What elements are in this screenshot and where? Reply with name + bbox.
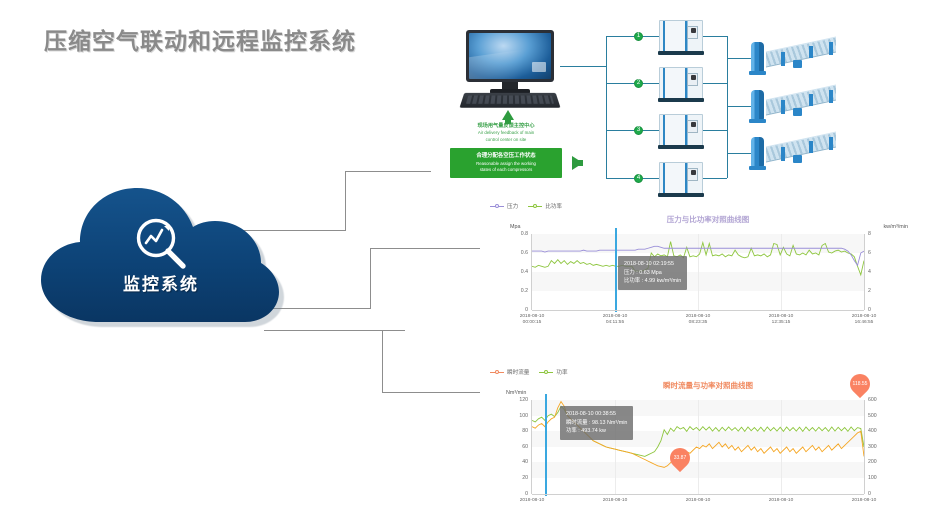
chart2-min-marker-pin[interactable]: 33.87 [666, 444, 694, 472]
chart1-tooltip: 2018-08-10 02:19:55 压力 : 0.63 Mpa 比功率 : … [618, 256, 687, 290]
compressor-unit[interactable] [659, 114, 703, 146]
flow-power-chart[interactable]: 瞬时流量 功率 瞬时流量与功率对照曲线图 Nm³/min [488, 368, 908, 518]
node-to-compressor-line-3 [643, 130, 659, 131]
right-arrow-icon [572, 156, 583, 170]
pipe-drop [781, 52, 785, 66]
feedback-note-cn: 现场用气量反馈主控中心 [448, 122, 564, 130]
node-badge-1[interactable]: 1 [634, 32, 643, 41]
chart1-y2tick: 4 [868, 269, 871, 275]
legend-label: 瞬时流量 [507, 368, 529, 376]
compressor-base [658, 51, 704, 55]
chart2-ytick: 120 [502, 397, 528, 403]
keyboard-icon [459, 93, 560, 108]
chart1-y2tick: 2 [868, 288, 871, 294]
chart2-tooltip-timestamp: 2018-08-10 00:38:55 [566, 410, 627, 419]
chart1-tooltip-line1: 压力 : 0.63 Mpa [624, 269, 681, 278]
legend-item-power[interactable]: 功率 [539, 368, 567, 376]
compressor-unit[interactable] [659, 67, 703, 99]
branch-line-3 [606, 130, 634, 131]
chart1-xtick: 2018-08-10 00:00:15 [502, 314, 562, 327]
compressor-unit[interactable] [659, 20, 703, 52]
chart2-xtick-date: 2018-08-10 [751, 498, 811, 504]
chart1-y-axis-unit: Mpa [510, 224, 521, 230]
chart1-xtick-time: 12:35:15 [751, 320, 811, 326]
legend-marker-icon [528, 203, 542, 209]
slide-root: 压缩空气联动和远程监控系统 监控系统 [0, 0, 945, 529]
air-tank-icon [751, 90, 764, 120]
chart2-ytick: 100 [502, 413, 528, 419]
node-badge-4[interactable]: 4 [634, 174, 643, 183]
pipe-drop [809, 46, 813, 58]
compressor-base [658, 193, 704, 197]
chart2-min-marker-label: 33.87 [670, 448, 690, 468]
chart2-axis-right [864, 400, 865, 494]
chart1-title: 压力与比功率对照曲线图 [608, 214, 808, 225]
air-tank-icon [751, 137, 764, 167]
pipe-drop [781, 100, 785, 114]
chart1-y2tick: 6 [868, 250, 871, 256]
left-bus-vertical [606, 36, 607, 178]
compressor-out-line-4 [703, 178, 727, 179]
chart1-xtick-time: 00:00:15 [502, 320, 562, 326]
compressor-body [659, 20, 703, 52]
chart2-xtick: 2018-08-10 [585, 498, 645, 504]
chart1-xtick: 2018-08-10 04:11:55 [585, 314, 645, 327]
chart1-y2-axis-unit: kw/m³/min [883, 224, 908, 230]
screen-logo [532, 62, 546, 72]
monitoring-system-cloud[interactable]: 监控系统 [36, 184, 286, 324]
chart2-y2tick: 0 [868, 491, 871, 497]
page-title: 压缩空气联动和远程监控系统 [44, 22, 356, 56]
connector-line-2-vertical [370, 248, 371, 309]
chart2-tooltip-line1: 瞬时流量 : 98.13 Nm³/min [566, 419, 627, 428]
connector-line-1-vertical [345, 171, 346, 231]
desktop-monitor-icon [460, 30, 560, 108]
chart1-xtick-time: 04:11:55 [585, 320, 645, 326]
node-to-compressor-line-2 [643, 83, 659, 84]
feedback-note-en-2: control center on site [448, 137, 564, 144]
compressor-body [659, 67, 703, 99]
branch-line-1 [606, 36, 634, 37]
node-badge-3[interactable]: 3 [634, 126, 643, 135]
chart2-y2tick: 200 [868, 459, 877, 465]
assign-states-box: 合理分配各空压工作状态 Reasonable assign the workin… [450, 148, 562, 178]
chart1-tooltip-line2: 比功率 : 4.99 kw/m³/min [624, 277, 681, 286]
chart2-tooltip-line2: 功率 : 493.74 kw [566, 427, 627, 436]
connector-line-3-vertical [382, 330, 383, 392]
compressor-base [658, 145, 704, 149]
tank-feed-line-3 [727, 153, 751, 154]
valve-icon [793, 108, 802, 116]
assign-states-en-2: states of each compressors [480, 167, 533, 173]
compressor-base [658, 98, 704, 102]
chart1-legend[interactable]: 压力 比功率 [490, 202, 562, 210]
monitor-screen [469, 33, 551, 79]
network-diagram: 现场用气量反馈主控中心 Air delivery feedback of mai… [432, 18, 942, 203]
assign-states-cn: 合理分配各空压工作状态 [476, 153, 535, 161]
monitor-screen-bezel [466, 30, 554, 82]
chart1-y2tick: 0 [868, 307, 871, 313]
pipe-drop [781, 147, 785, 161]
connector-line-2-horizontal-right [370, 248, 480, 249]
chart1-tooltip-timestamp: 2018-08-10 02:19:55 [624, 260, 681, 269]
chart2-max-marker-pin[interactable]: 118.55 [846, 370, 874, 398]
chart1-xtick: 2018-08-10 12:35:15 [751, 314, 811, 327]
chart2-xtick: 2018-08-10 [834, 498, 894, 504]
chart2-axis-left [531, 400, 532, 494]
air-tank-icon [751, 42, 764, 72]
chart1-ytick: 0.6 [504, 250, 528, 256]
tank-feed-line-1 [727, 58, 751, 59]
compressor-out-line-1 [703, 36, 727, 37]
legend-marker-icon [539, 369, 553, 375]
chart2-plot-area[interactable]: 2018-08-10 00:38:55 瞬时流量 : 98.13 Nm³/min… [532, 400, 864, 494]
legend-marker-icon [490, 203, 504, 209]
air-tank-distribution-group[interactable] [751, 133, 843, 173]
feedback-note: 现场用气量反馈主控中心 Air delivery feedback of mai… [448, 122, 564, 144]
chart1-y2tick: 8 [868, 231, 871, 237]
pipe-drop [829, 90, 833, 103]
chart2-y2tick: 500 [868, 413, 877, 419]
chart1-xtick: 2018-08-10 08:23:35 [668, 314, 728, 327]
chart1-ytick: 0.2 [504, 288, 528, 294]
legend-marker-icon [490, 369, 504, 375]
monitor-to-bus-line [560, 66, 606, 67]
tank-feed-line-2 [727, 106, 751, 107]
chart1-xtick-time: 08:23:35 [668, 320, 728, 326]
chart1-xtick: 2018-08-10 16:46:55 [834, 314, 894, 327]
legend-label: 压力 [507, 202, 518, 210]
chart2-y2tick: 100 [868, 475, 877, 481]
node-to-compressor-line-4 [643, 178, 659, 179]
connector-line-1-horizontal-right [345, 171, 431, 172]
chart2-max-marker-label: 118.55 [850, 374, 870, 394]
chart2-xtick: 2018-08-10 [751, 498, 811, 504]
chart1-series-svg [532, 234, 864, 310]
feedback-note-en-1: Air delivery feedback of main [448, 130, 564, 137]
chart1-ytick: 0.4 [504, 269, 528, 275]
pipe-drop [829, 42, 833, 55]
air-tank-distribution-group[interactable] [751, 38, 843, 78]
branch-line-2 [606, 83, 634, 84]
chart1-xtick-time: 16:46:55 [834, 320, 894, 326]
valve-icon [793, 60, 802, 68]
chart2-y-axis-unit: Nm³/min [506, 390, 526, 396]
chart2-xtick-date: 2018-08-10 [585, 498, 645, 504]
chart1-axis-right [864, 234, 865, 310]
magnifier-chart-icon [132, 216, 192, 274]
legend-label: 功率 [556, 368, 567, 376]
chart1-plot-area[interactable]: 2018-08-10 02:19:55 压力 : 0.63 Mpa 比功率 : … [532, 234, 864, 310]
chart2-y2tick: 400 [868, 428, 877, 434]
chart2-tooltip: 2018-08-10 00:38:55 瞬时流量 : 98.13 Nm³/min… [560, 406, 633, 440]
cloud-label: 监控系统 [36, 270, 286, 295]
valve-icon [793, 155, 802, 163]
chart2-title: 瞬时流量与功率对照曲线图 [608, 380, 808, 391]
compressor-body [659, 114, 703, 146]
chart1-ytick: 0 [504, 307, 528, 313]
chart2-ytick: 60 [502, 444, 528, 450]
up-arrow-icon [502, 110, 514, 120]
node-to-compressor-line-1 [643, 36, 659, 37]
pressure-power-chart[interactable]: 压力 比功率 压力与比功率对照曲线图 Mpa kw/m³/min [488, 202, 908, 332]
chart2-y2tick: 600 [868, 397, 877, 403]
chart2-ytick: 0 [502, 491, 528, 497]
branch-line-4 [606, 178, 634, 179]
legend-label: 比功率 [545, 202, 562, 210]
pipe-drop [829, 137, 833, 150]
chart1-cursor-line[interactable] [615, 228, 617, 312]
air-tank-distribution-group[interactable] [751, 86, 843, 126]
chart2-legend[interactable]: 瞬时流量 功率 [490, 368, 568, 376]
chart2-cursor-line[interactable] [545, 394, 547, 496]
chart1-axis-left [531, 234, 532, 310]
compressor-out-line-2 [703, 83, 727, 84]
node-badge-2[interactable]: 2 [634, 79, 643, 88]
chart2-xtick: 2018-08-10 [668, 498, 728, 504]
chart2-xtick-date: 2018-08-10 [668, 498, 728, 504]
legend-item-specific-power[interactable]: 比功率 [528, 202, 562, 210]
chart2-xtick-date: 2018-08-10 [834, 498, 894, 504]
compressor-body [659, 162, 703, 194]
legend-item-pressure[interactable]: 压力 [490, 202, 518, 210]
legend-item-instant-flow[interactable]: 瞬时流量 [490, 368, 529, 376]
chart2-xtick: 2018-08-10 [502, 498, 562, 504]
compressor-unit[interactable] [659, 162, 703, 194]
chart2-y2tick: 300 [868, 444, 877, 450]
chart2-ytick: 40 [502, 459, 528, 465]
connector-line-3-horizontal-right [382, 392, 480, 393]
chart2-ytick: 20 [502, 475, 528, 481]
chart1-ytick: 0.8 [504, 231, 528, 237]
pipe-drop [809, 141, 813, 153]
chart1-axis-bottom [532, 310, 864, 311]
chart2-axis-bottom [532, 494, 864, 495]
connector-line-3-horizontal-left [264, 330, 405, 331]
pipe-drop [809, 94, 813, 106]
compressor-out-line-3 [703, 130, 727, 131]
chart2-xtick-date: 2018-08-10 [502, 498, 562, 504]
chart2-ytick: 80 [502, 428, 528, 434]
